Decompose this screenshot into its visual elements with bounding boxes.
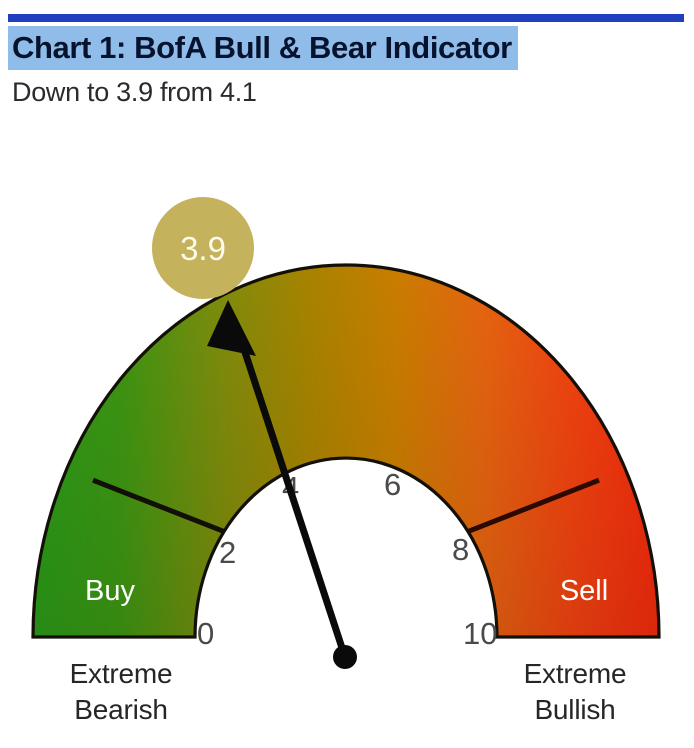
caption-bearish-line2: Bearish: [6, 692, 236, 728]
caption-extreme-bearish: Extreme Bearish: [6, 656, 236, 728]
caption-bearish-line1: Extreme: [6, 656, 236, 692]
value-badge-text: 3.9: [180, 230, 226, 267]
needle-pivot: [333, 645, 357, 669]
caption-bullish-line2: Bullish: [460, 692, 690, 728]
title-block: Chart 1: BofA Bull & Bear Indicator Down…: [8, 26, 684, 108]
tick-label-6: 6: [384, 467, 401, 502]
tick-label-8: 8: [452, 532, 469, 567]
tick-label-0: 0: [197, 616, 214, 651]
caption-bullish-line1: Extreme: [460, 656, 690, 692]
gauge-svg: 0 2 4 6 8 10 Buy Sell 3.9: [0, 150, 694, 670]
zone-label-buy: Buy: [85, 575, 135, 607]
caption-extreme-bullish: Extreme Bullish: [460, 656, 690, 728]
gauge-chart: 0 2 4 6 8 10 Buy Sell 3.9: [0, 150, 694, 670]
tick-label-2: 2: [219, 535, 236, 570]
value-badge: 3.9: [152, 197, 254, 299]
chart-subtitle: Down to 3.9 from 4.1: [8, 76, 684, 108]
zone-label-sell: Sell: [560, 575, 608, 607]
tick-label-10: 10: [463, 616, 497, 651]
page-title: Chart 1: BofA Bull & Bear Indicator: [8, 26, 518, 70]
header-rule: [8, 14, 684, 22]
